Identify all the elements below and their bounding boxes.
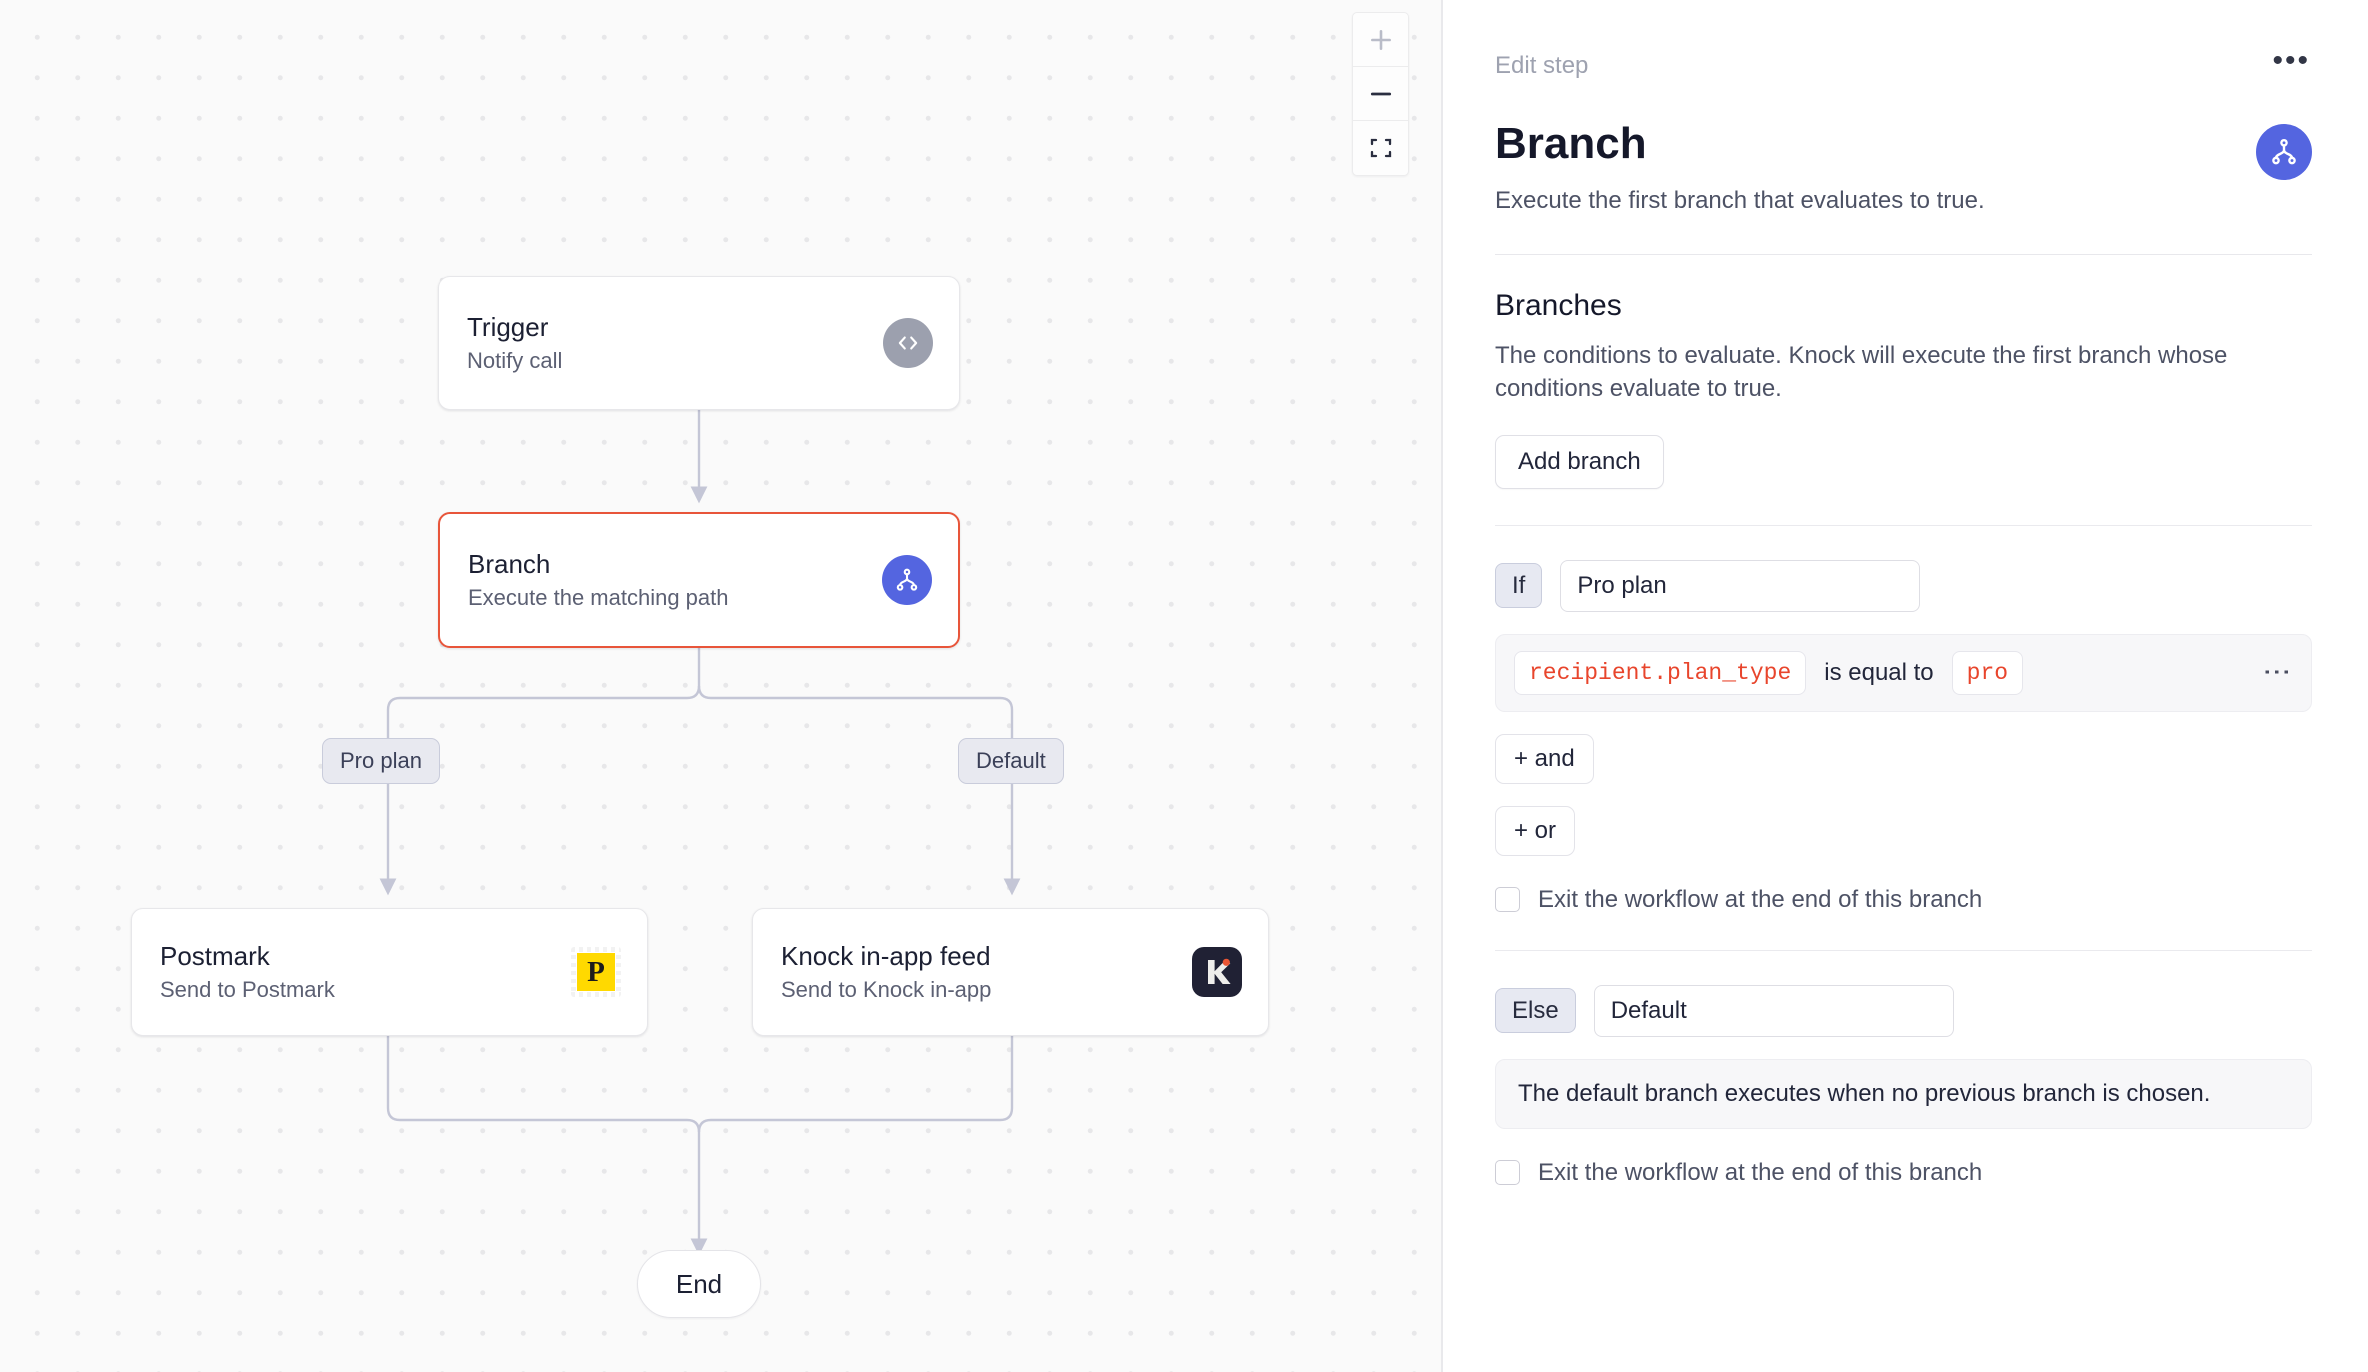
postmark-logo-letter: P	[577, 953, 615, 991]
knock-glyph	[1200, 955, 1234, 989]
edge-label-text: Default	[976, 748, 1046, 773]
condition-value-chip[interactable]: pro	[1952, 651, 2023, 695]
workflow-node-branch[interactable]: Branch Execute the matching path	[438, 512, 960, 648]
branches-description: The conditions to evaluate. Knock will e…	[1495, 339, 2312, 405]
knock-logo-icon	[1192, 947, 1242, 997]
workflow-node-knock-in-app-feed[interactable]: Knock in-app feed Send to Knock in-app	[752, 908, 1269, 1036]
workflow-edges	[0, 0, 1443, 1372]
node-text: Postmark Send to Postmark	[160, 942, 335, 1002]
edit-step-panel: Edit step ••• Branch Execute the first b…	[1443, 0, 2368, 1372]
branch-icon	[882, 555, 932, 605]
fit-view-icon	[1369, 136, 1393, 160]
condition-variable-chip[interactable]: recipient.plan_type	[1514, 651, 1806, 695]
condition-more-options-button[interactable]: ⋮	[2264, 658, 2289, 687]
branch-divider-top	[1495, 525, 2312, 526]
section-divider	[1495, 254, 2312, 255]
branch-if-logic-buttons: + and	[1495, 712, 2312, 784]
node-subtitle: Send to Postmark	[160, 978, 335, 1002]
node-text: Branch Execute the matching path	[468, 550, 729, 610]
node-subtitle: Execute the matching path	[468, 586, 729, 610]
minus-icon	[1368, 81, 1394, 107]
postmark-logo-icon: P	[571, 947, 621, 997]
plus-icon	[1368, 27, 1394, 53]
zoom-in-button[interactable]	[1353, 13, 1408, 67]
branch-else-exit-checkbox-row[interactable]: Exit the workflow at the end of this bra…	[1495, 1159, 2312, 1187]
branch-icon	[2256, 124, 2312, 180]
branch-if-header: If	[1495, 560, 2312, 612]
fit-view-button[interactable]	[1353, 121, 1408, 175]
node-icon	[882, 555, 932, 605]
condition-operator[interactable]: is equal to	[1824, 659, 1933, 687]
zoom-controls[interactable]	[1352, 12, 1409, 176]
panel-eyebrow: Edit step	[1495, 48, 1588, 78]
workflow-editor: Trigger Notify call Branch Execute the m…	[0, 0, 2368, 1372]
panel-header: Branch Execute the first branch that eva…	[1495, 120, 2312, 216]
edge-label-pro-plan[interactable]: Pro plan	[322, 738, 440, 784]
branch-if: If recipient.plan_type is equal to pro ⋮…	[1495, 560, 2312, 914]
branch-else-header: Else	[1495, 985, 2312, 1037]
branch-else: Else The default branch executes when no…	[1495, 985, 2312, 1187]
workflow-node-end[interactable]: End	[637, 1250, 761, 1318]
panel-header-text: Branch Execute the first branch that eva…	[1495, 120, 1985, 216]
node-title: Knock in-app feed	[781, 942, 991, 971]
branch-if-condition-row: recipient.plan_type is equal to pro ⋮	[1495, 634, 2312, 712]
branch-if-tag: If	[1495, 563, 1542, 608]
add-and-condition-button[interactable]: + and	[1495, 734, 1594, 784]
panel-top-bar: Edit step •••	[1495, 48, 2312, 78]
workflow-canvas[interactable]: Trigger Notify call Branch Execute the m…	[0, 0, 1443, 1372]
page-description: Execute the first branch that evaluates …	[1495, 186, 1985, 216]
workflow-node-postmark[interactable]: Postmark Send to Postmark P	[131, 908, 648, 1036]
branches-heading: Branches	[1495, 289, 2312, 323]
branch-else-exit-label: Exit the workflow at the end of this bra…	[1538, 1159, 1982, 1187]
add-or-condition-button[interactable]: + or	[1495, 806, 1575, 856]
node-title: Branch	[468, 550, 729, 579]
branch-divider-middle	[1495, 950, 2312, 951]
zoom-out-button[interactable]	[1353, 67, 1408, 121]
node-text: Trigger Notify call	[467, 313, 562, 373]
branch-else-note: The default branch executes when no prev…	[1495, 1059, 2312, 1129]
branch-if-exit-checkbox[interactable]	[1495, 887, 1520, 912]
node-title: Trigger	[467, 313, 562, 342]
code-icon	[883, 318, 933, 368]
node-icon	[883, 318, 933, 368]
node-subtitle: Send to Knock in-app	[781, 978, 991, 1002]
node-title: Postmark	[160, 942, 335, 971]
branch-if-or-wrapper: + or	[1495, 784, 2312, 856]
branch-else-exit-checkbox[interactable]	[1495, 1160, 1520, 1185]
node-text: Knock in-app feed Send to Knock in-app	[781, 942, 991, 1002]
node-icon	[1192, 947, 1242, 997]
node-icon: P	[571, 947, 621, 997]
node-subtitle: Notify call	[467, 349, 562, 373]
page-title: Branch	[1495, 120, 1985, 168]
edge-label-text: Pro plan	[340, 748, 422, 773]
panel-more-options-button[interactable]: •••	[2270, 48, 2312, 74]
branch-if-exit-checkbox-row[interactable]: Exit the workflow at the end of this bra…	[1495, 886, 2312, 914]
branch-else-tag: Else	[1495, 988, 1576, 1033]
branch-else-name-input[interactable]	[1594, 985, 1954, 1037]
add-branch-button[interactable]: Add branch	[1495, 435, 1664, 489]
end-node-label: End	[676, 1269, 722, 1300]
workflow-node-trigger[interactable]: Trigger Notify call	[438, 276, 960, 410]
branch-if-name-input[interactable]	[1560, 560, 1920, 612]
edge-label-default[interactable]: Default	[958, 738, 1064, 784]
branch-if-exit-label: Exit the workflow at the end of this bra…	[1538, 886, 1982, 914]
